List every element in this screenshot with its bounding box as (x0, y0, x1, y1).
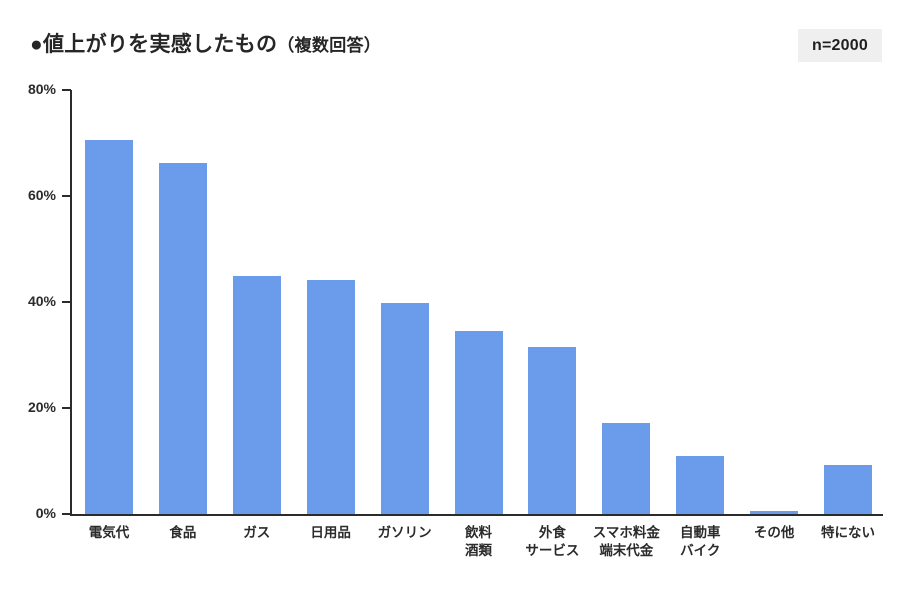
y-axis-tick-label-wrap: 40% (0, 294, 56, 308)
bar (750, 511, 798, 514)
y-axis-tick (62, 513, 71, 515)
x-axis-category-label: 自動車 バイク (663, 524, 737, 560)
bar (824, 465, 872, 514)
y-axis-tick (62, 407, 71, 409)
x-axis-category-label: その他 (737, 524, 811, 542)
y-axis-tick-label-wrap: 0% (0, 506, 56, 520)
x-axis-category-label: 食品 (146, 524, 220, 542)
y-axis-tick-label: 60% (0, 188, 56, 202)
x-axis-category-label: 日用品 (294, 524, 368, 542)
y-axis-tick (62, 89, 71, 91)
bar (676, 456, 724, 514)
x-axis-category-label: ガス (220, 524, 294, 542)
y-axis-tick-label: 0% (0, 506, 56, 520)
y-axis-tick (62, 195, 71, 197)
y-axis-tick-label: 40% (0, 294, 56, 308)
x-axis-category-label: 電気代 (72, 524, 146, 542)
bar (528, 347, 576, 514)
bar (381, 303, 429, 514)
bar (307, 280, 355, 514)
y-axis-tick-label: 20% (0, 400, 56, 414)
x-axis-category-label: スマホ料金 端末代金 (589, 524, 663, 560)
y-axis-tick (62, 301, 71, 303)
x-axis-category-label: 特にない (811, 524, 885, 542)
bar (85, 140, 133, 514)
y-axis-tick-label: 80% (0, 82, 56, 96)
y-axis-tick-label-wrap: 60% (0, 188, 56, 202)
x-axis-category-label: 飲料 酒類 (442, 524, 516, 560)
bar (159, 163, 207, 514)
bar (233, 276, 281, 515)
bar (455, 331, 503, 514)
y-axis-tick-label-wrap: 20% (0, 400, 56, 414)
bar-chart-plot: 0%20%40%60%80% 電気代食品ガス日用品ガソリン飲料 酒類外食 サービ… (0, 0, 903, 602)
x-axis-category-label: ガソリン (368, 524, 442, 542)
x-axis-category-label: 外食 サービス (515, 524, 589, 560)
y-axis-tick-label-wrap: 80% (0, 82, 56, 96)
x-axis-line (70, 514, 883, 516)
bar (602, 423, 650, 514)
